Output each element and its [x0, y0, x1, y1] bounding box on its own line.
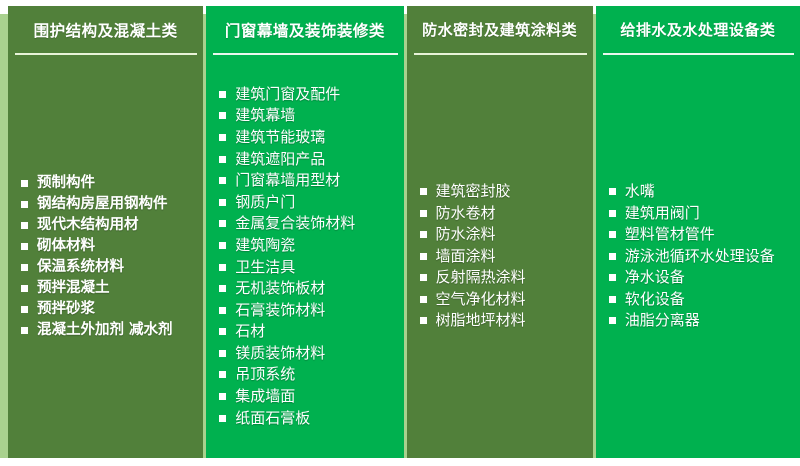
- categories-poster: 围护结构及混凝土类 预制构件 钢结构房屋用钢构件 现代木结构用材 砌体材料 保温…: [0, 0, 800, 466]
- column-header-envelope-concrete: 围护结构及混凝土类: [8, 6, 203, 53]
- category-item-list: 水嘴 建筑用阀门 塑料管材管件 游泳池循环水处理设备 净水设备 软化设备 油脂分…: [608, 181, 794, 332]
- list-item-label: 建筑节能玻璃: [235, 128, 325, 146]
- list-item-label: 塑料管材管件: [625, 225, 715, 243]
- list-item-label: 预制构件: [37, 175, 95, 191]
- square-bullet-icon: [609, 317, 616, 324]
- list-item[interactable]: 保温系统材料: [20, 257, 197, 278]
- list-item[interactable]: 防水涂料: [419, 224, 587, 246]
- column-header-doors-windows-curtainwall-decoration: 门窗幕墙及装饰装修类: [206, 6, 403, 53]
- square-bullet-icon: [219, 177, 226, 184]
- list-item[interactable]: 集成墙面: [218, 386, 397, 408]
- square-bullet-icon: [219, 415, 226, 422]
- list-item[interactable]: 建筑密封胶: [419, 181, 587, 203]
- square-bullet-icon: [420, 188, 427, 195]
- square-bullet-icon: [219, 371, 226, 378]
- list-item-label: 吊顶系统: [235, 365, 295, 383]
- list-item[interactable]: 钢质户门: [218, 192, 397, 214]
- square-bullet-icon: [21, 243, 28, 250]
- list-item[interactable]: 现代木结构用材: [20, 215, 197, 236]
- list-item[interactable]: 建筑节能玻璃: [218, 127, 397, 149]
- square-bullet-icon: [219, 112, 226, 119]
- list-item[interactable]: 软化设备: [608, 289, 794, 311]
- list-item[interactable]: 建筑陶瓷: [218, 235, 397, 257]
- list-item-label: 建筑陶瓷: [235, 236, 295, 254]
- list-item-label: 预拌混凝土: [37, 280, 110, 296]
- list-item[interactable]: 预制构件: [20, 173, 197, 194]
- list-item[interactable]: 石膏装饰材料: [218, 300, 397, 322]
- list-item-label: 水嘴: [625, 182, 655, 200]
- list-item-label: 无机装饰板材: [235, 279, 325, 297]
- category-column-waterproof-sealing-coatings[interactable]: 防水密封及建筑涂料类 建筑密封胶 防水卷材 防水涂料 墙面涂料 反射隔热涂料 空…: [407, 6, 593, 458]
- list-item-label: 油脂分离器: [625, 311, 700, 329]
- list-item[interactable]: 建筑门窗及配件: [218, 84, 397, 106]
- square-bullet-icon: [609, 253, 616, 260]
- category-item-list: 建筑密封胶 防水卷材 防水涂料 墙面涂料 反射隔热涂料 空气净化材料 树脂地坪材…: [419, 181, 587, 332]
- column-body: 预制构件 钢结构房屋用钢构件 现代木结构用材 砌体材料 保温系统材料 预拌混凝土…: [8, 55, 203, 458]
- list-item-label: 建筑密封胶: [436, 182, 511, 200]
- list-item-label: 纸面石膏板: [235, 409, 310, 427]
- square-bullet-icon: [420, 274, 427, 281]
- list-item-label: 反射隔热涂料: [436, 268, 526, 286]
- list-item-label: 门窗幕墙用型材: [235, 171, 340, 189]
- list-item-label: 墙面涂料: [436, 247, 496, 265]
- column-header-waterproof-sealing-coatings: 防水密封及建筑涂料类: [407, 6, 593, 53]
- square-bullet-icon: [219, 264, 226, 271]
- square-bullet-icon: [219, 350, 226, 357]
- list-item-label: 镁质装饰材料: [235, 344, 325, 362]
- square-bullet-icon: [609, 210, 616, 217]
- list-item-label: 建筑门窗及配件: [235, 85, 340, 103]
- list-item[interactable]: 吊顶系统: [218, 364, 397, 386]
- square-bullet-icon: [21, 264, 28, 271]
- category-column-water-supply-drainage-treatment[interactable]: 给排水及水处理设备类 水嘴 建筑用阀门 塑料管材管件 游泳池循环水处理设备 净水…: [596, 6, 800, 458]
- list-item[interactable]: 油脂分离器: [608, 310, 794, 332]
- list-item[interactable]: 钢结构房屋用钢构件: [20, 194, 197, 215]
- list-item-label: 金属复合装饰材料: [235, 214, 355, 232]
- category-column-doors-windows-curtainwall-decoration[interactable]: 门窗幕墙及装饰装修类 建筑门窗及配件 建筑幕墙 建筑节能玻璃 建筑遮阳产品 门窗…: [206, 6, 403, 458]
- list-item[interactable]: 混凝土外加剂 减水剂: [20, 320, 197, 341]
- list-item[interactable]: 卫生洁具: [218, 257, 397, 279]
- list-item[interactable]: 水嘴: [608, 181, 794, 203]
- square-bullet-icon: [219, 134, 226, 141]
- square-bullet-icon: [219, 328, 226, 335]
- list-item[interactable]: 空气净化材料: [419, 289, 587, 311]
- list-item[interactable]: 塑料管材管件: [608, 224, 794, 246]
- list-item[interactable]: 门窗幕墙用型材: [218, 170, 397, 192]
- column-title: 防水密封及建筑涂料类: [422, 19, 577, 40]
- square-bullet-icon: [219, 220, 226, 227]
- square-bullet-icon: [219, 393, 226, 400]
- column-title: 围护结构及混凝土类: [34, 19, 178, 41]
- square-bullet-icon: [21, 327, 28, 334]
- square-bullet-icon: [21, 201, 28, 208]
- list-item[interactable]: 纸面石膏板: [218, 408, 397, 430]
- square-bullet-icon: [609, 188, 616, 195]
- list-item-label: 游泳池循环水处理设备: [625, 247, 775, 265]
- column-title: 门窗幕墙及装饰装修类: [225, 19, 385, 41]
- square-bullet-icon: [219, 199, 226, 206]
- list-item-label: 树脂地坪材料: [436, 311, 526, 329]
- square-bullet-icon: [420, 210, 427, 217]
- square-bullet-icon: [420, 317, 427, 324]
- column-title: 给排水及水处理设备类: [620, 19, 775, 40]
- list-item[interactable]: 金属复合装饰材料: [218, 213, 397, 235]
- list-item-label: 石材: [235, 322, 265, 340]
- category-item-list: 建筑门窗及配件 建筑幕墙 建筑节能玻璃 建筑遮阳产品 门窗幕墙用型材 钢质户门 …: [218, 84, 397, 430]
- category-columns: 围护结构及混凝土类 预制构件 钢结构房屋用钢构件 现代木结构用材 砌体材料 保温…: [8, 6, 800, 458]
- square-bullet-icon: [420, 253, 427, 260]
- square-bullet-icon: [219, 285, 226, 292]
- list-item-label: 软化设备: [625, 290, 685, 308]
- list-item-label: 钢结构房屋用钢构件: [37, 196, 168, 212]
- category-column-envelope-concrete[interactable]: 围护结构及混凝土类 预制构件 钢结构房屋用钢构件 现代木结构用材 砌体材料 保温…: [8, 6, 203, 458]
- list-item-label: 空气净化材料: [436, 290, 526, 308]
- square-bullet-icon: [21, 222, 28, 229]
- list-item-label: 建筑遮阳产品: [235, 150, 325, 168]
- list-item-label: 保温系统材料: [37, 259, 124, 275]
- square-bullet-icon: [609, 274, 616, 281]
- list-item-label: 预拌砂浆: [37, 301, 95, 317]
- list-item[interactable]: 建筑幕墙: [218, 105, 397, 127]
- list-item[interactable]: 游泳池循环水处理设备: [608, 246, 794, 268]
- list-item[interactable]: 建筑遮阳产品: [218, 149, 397, 171]
- list-item[interactable]: 防水卷材: [419, 203, 587, 225]
- square-bullet-icon: [420, 231, 427, 238]
- list-item-label: 混凝土外加剂 减水剂: [37, 322, 173, 338]
- list-item[interactable]: 无机装饰板材: [218, 278, 397, 300]
- square-bullet-icon: [420, 296, 427, 303]
- list-item[interactable]: 预拌混凝土: [20, 278, 197, 299]
- square-bullet-icon: [609, 296, 616, 303]
- list-item[interactable]: 镁质装饰材料: [218, 343, 397, 365]
- list-item[interactable]: 石材: [218, 321, 397, 343]
- list-item-label: 防水卷材: [436, 204, 496, 222]
- square-bullet-icon: [21, 285, 28, 292]
- square-bullet-icon: [219, 91, 226, 98]
- list-item-label: 石膏装饰材料: [235, 301, 325, 319]
- square-bullet-icon: [219, 307, 226, 314]
- bottom-base-strip: [0, 458, 800, 466]
- list-item-label: 钢质户门: [235, 193, 295, 211]
- column-header-water-supply-drainage-treatment: 给排水及水处理设备类: [596, 6, 800, 53]
- column-body: 建筑密封胶 防水卷材 防水涂料 墙面涂料 反射隔热涂料 空气净化材料 树脂地坪材…: [407, 55, 593, 458]
- list-item[interactable]: 预拌砂浆: [20, 299, 197, 320]
- square-bullet-icon: [219, 242, 226, 249]
- list-item-label: 砌体材料: [37, 238, 95, 254]
- list-item-label: 建筑幕墙: [235, 106, 295, 124]
- list-item[interactable]: 砌体材料: [20, 236, 197, 257]
- list-item[interactable]: 反射隔热涂料: [419, 267, 587, 289]
- list-item[interactable]: 净水设备: [608, 267, 794, 289]
- list-item[interactable]: 树脂地坪材料: [419, 310, 587, 332]
- list-item-label: 现代木结构用材: [37, 217, 139, 233]
- list-item-label: 集成墙面: [235, 387, 295, 405]
- square-bullet-icon: [219, 156, 226, 163]
- square-bullet-icon: [21, 306, 28, 313]
- square-bullet-icon: [609, 231, 616, 238]
- list-item-label: 建筑用阀门: [625, 204, 700, 222]
- column-body: 建筑门窗及配件 建筑幕墙 建筑节能玻璃 建筑遮阳产品 门窗幕墙用型材 钢质户门 …: [206, 55, 403, 458]
- column-body: 水嘴 建筑用阀门 塑料管材管件 游泳池循环水处理设备 净水设备 软化设备 油脂分…: [596, 55, 800, 458]
- list-item-label: 净水设备: [625, 268, 685, 286]
- list-item-label: 防水涂料: [436, 225, 496, 243]
- list-item[interactable]: 墙面涂料: [419, 246, 587, 268]
- list-item-label: 卫生洁具: [235, 258, 295, 276]
- category-item-list: 预制构件 钢结构房屋用钢构件 现代木结构用材 砌体材料 保温系统材料 预拌混凝土…: [20, 173, 197, 341]
- list-item[interactable]: 建筑用阀门: [608, 203, 794, 225]
- square-bullet-icon: [21, 180, 28, 187]
